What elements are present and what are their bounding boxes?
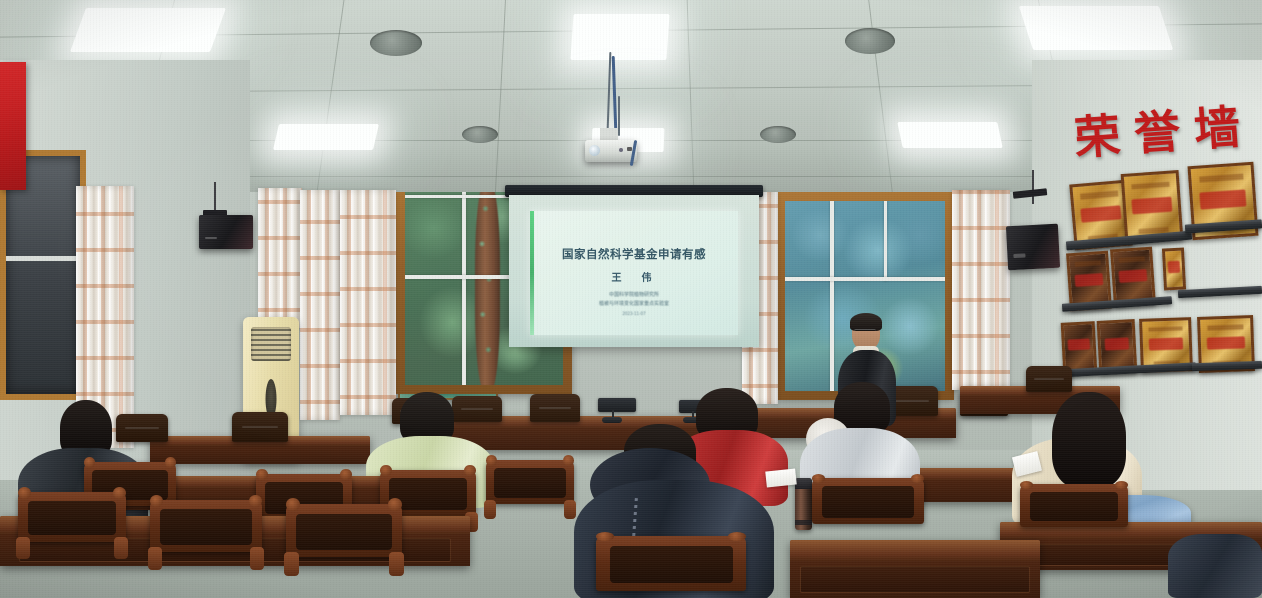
ceiling-vent-3	[462, 126, 498, 143]
red-banner	[0, 62, 26, 190]
wooden-chair[interactable]	[486, 460, 574, 536]
ceiling-vent-1	[370, 30, 422, 56]
wooden-chair[interactable]	[150, 500, 262, 590]
wooden-chair[interactable]	[1020, 484, 1128, 542]
honor-wall-heading: 荣誉墙	[1072, 90, 1256, 168]
wooden-chair[interactable]	[596, 536, 746, 598]
projection-screen: 国家自然科学基金申请有感 王 伟 中国科学院植物研究所 植被与环境变化国家重点实…	[509, 195, 759, 347]
wooden-chair[interactable]	[18, 492, 126, 578]
jacket-on-chair-right	[1168, 534, 1262, 598]
conference-chair[interactable]	[232, 412, 288, 442]
ceiling-light-4	[273, 124, 379, 150]
slide-lab-line: 植被与环境变化国家重点实验室	[530, 300, 738, 307]
window-r-mullion-h	[785, 277, 945, 281]
window-r-mullion-v	[830, 201, 834, 391]
honor-plaque	[1162, 247, 1186, 290]
wooden-chair[interactable]	[812, 478, 924, 542]
ceiling-light-3	[1019, 6, 1173, 50]
presenter-glasses	[854, 329, 876, 333]
door-glazing-bar	[6, 256, 80, 261]
desk-paper	[765, 468, 797, 487]
desk-microphone	[598, 398, 636, 412]
ceiling-vent-2	[845, 28, 895, 54]
attendee-cream-hair	[1052, 392, 1126, 488]
front-desk-center-right	[790, 540, 1040, 598]
wall-speaker-right	[1006, 224, 1060, 271]
curtain-mid-left	[340, 190, 396, 415]
conference-room-photo: 荣誉墙 国家自然科学基金申请有感 王	[0, 0, 1262, 598]
ceiling-projector	[585, 140, 637, 162]
ceiling-light-1	[70, 8, 226, 52]
thermos-flask	[795, 478, 812, 530]
slide-author: 王 伟	[530, 269, 738, 284]
speaker-cable-right	[1032, 170, 1034, 204]
ceiling-vent-4	[760, 126, 796, 143]
window-r-mullion-v2	[884, 201, 887, 281]
ceiling-light-2	[570, 14, 669, 60]
ceiling-light-6	[897, 122, 1003, 148]
slide-date: 2023-11-07	[530, 311, 738, 316]
curtain-left-2	[258, 188, 302, 328]
mic-base	[602, 417, 622, 423]
wooden-chair[interactable]	[286, 504, 402, 596]
ivy-vines	[468, 189, 503, 385]
thermos-lid	[795, 478, 812, 489]
thermos-ring	[795, 520, 812, 525]
conference-chair[interactable]	[1026, 366, 1072, 392]
speaker-cable-left	[214, 182, 216, 212]
curtain-left-3	[300, 190, 340, 420]
ac-grille	[251, 327, 291, 361]
wall-speaker-left	[199, 215, 253, 249]
curtain-right-2	[952, 190, 1010, 390]
window-mullion-v	[462, 189, 466, 385]
slide-title: 国家自然科学基金申请有感	[530, 246, 738, 262]
conference-chair[interactable]	[530, 394, 580, 422]
presentation-slide: 国家自然科学基金申请有感 王 伟 中国科学院植物研究所 植被与环境变化国家重点实…	[530, 211, 738, 335]
slide-organization: 中国科学院植物研究所	[530, 291, 738, 298]
